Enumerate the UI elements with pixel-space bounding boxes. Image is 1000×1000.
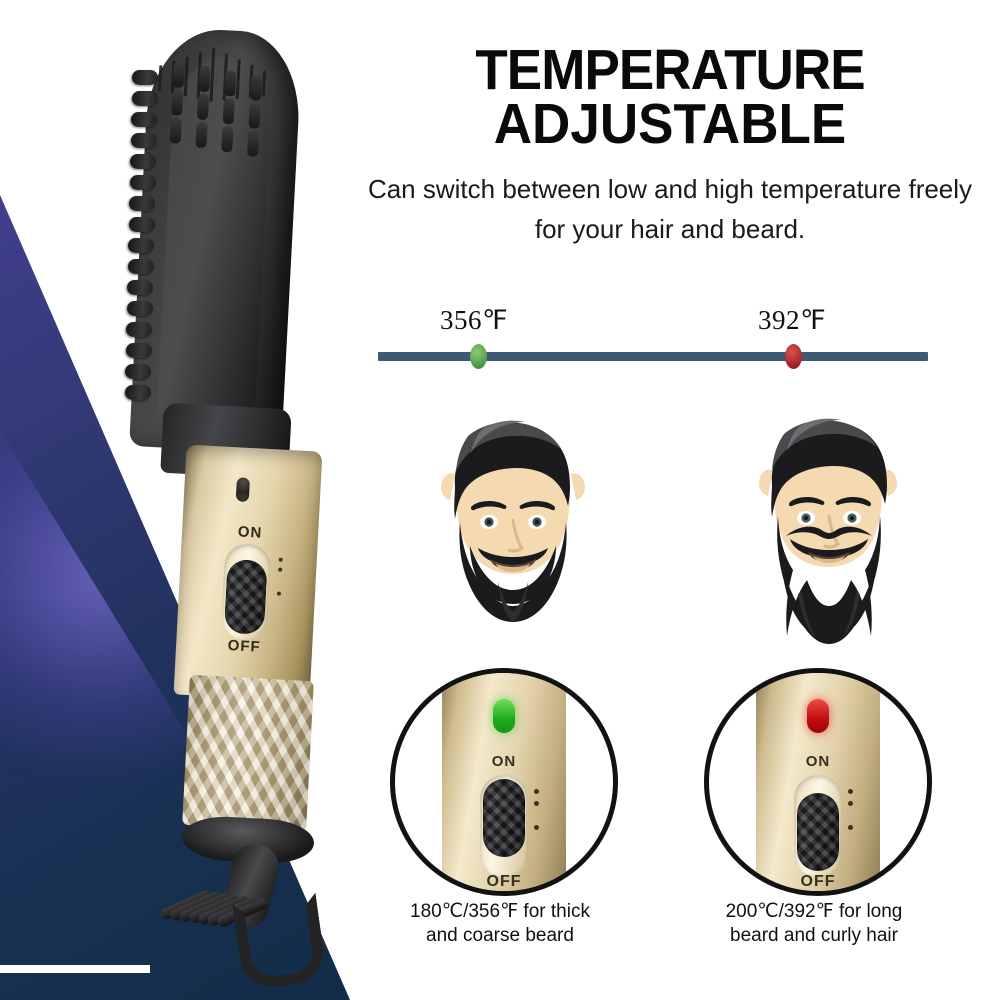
detail-off-label-low: OFF — [442, 873, 566, 891]
product-grip-texture — [182, 675, 314, 831]
led-indicator-red-icon — [807, 699, 829, 733]
product-handle: ON OFF — [174, 445, 323, 702]
caption-low-line1: 180℃/356℉ for thick — [350, 900, 650, 924]
page-subtitle: Can switch between low and high temperat… — [364, 170, 976, 249]
product-switch-track[interactable] — [221, 543, 272, 641]
detail-on-label-low: ON — [442, 753, 566, 770]
temperature-slider[interactable] — [378, 352, 928, 361]
detail-switch-knob-low[interactable] — [483, 779, 525, 857]
detail-switch-track-low[interactable] — [480, 775, 528, 877]
detail-switch-track-high[interactable] — [794, 775, 842, 877]
high-temp-label: 392℉ — [758, 305, 826, 336]
caption-high-line1: 200℃/392℉ for long — [664, 900, 964, 924]
brush-side-teeth — [118, 70, 164, 430]
product-off-label: OFF — [176, 634, 313, 658]
product-led-indicator — [236, 477, 250, 502]
product-image: ON OFF — [78, 18, 378, 948]
detail-dot-marks-high — [848, 789, 856, 837]
brush-top-teeth — [163, 35, 289, 161]
face-illustration-long-beard — [712, 396, 942, 646]
slider-dot-high[interactable] — [785, 344, 802, 369]
detail-handle-low: ON OFF — [442, 668, 566, 896]
detail-circle-low-temp: ON OFF — [390, 668, 618, 896]
slider-dot-low[interactable] — [470, 344, 487, 369]
caption-low-line2: and coarse beard — [350, 924, 650, 948]
product-grip — [182, 675, 314, 831]
detail-switch-knob-high[interactable] — [797, 793, 839, 871]
detail-off-label-high: OFF — [756, 873, 880, 891]
infographic-canvas: ON OFF TEMPERATURE ADJUSTABLE Can switch… — [0, 0, 1000, 1000]
low-temp-label: 356℉ — [440, 305, 508, 336]
detail-handle-high: ON OFF — [756, 668, 880, 896]
product-switch-knob[interactable] — [224, 559, 268, 635]
title-line-2: ADJUSTABLE — [363, 98, 977, 152]
page-title: TEMPERATURE ADJUSTABLE — [363, 44, 977, 151]
caption-high-temp: 200℃/392℉ for long beard and curly hair — [664, 900, 964, 948]
caption-high-line2: beard and curly hair — [664, 924, 964, 948]
led-indicator-green-icon — [493, 699, 515, 733]
detail-dot-marks-low — [534, 789, 542, 837]
content-column: TEMPERATURE ADJUSTABLE Can switch betwee… — [340, 0, 1000, 1000]
caption-low-temp: 180℃/356℉ for thick and coarse beard — [350, 900, 650, 948]
detail-circle-high-temp: ON OFF — [704, 668, 932, 896]
detail-on-label-high: ON — [756, 753, 880, 770]
background-strip — [0, 965, 150, 973]
face-illustration-short-beard — [398, 396, 628, 646]
product-dot-marks — [274, 557, 287, 609]
product-on-label: ON — [182, 521, 319, 545]
